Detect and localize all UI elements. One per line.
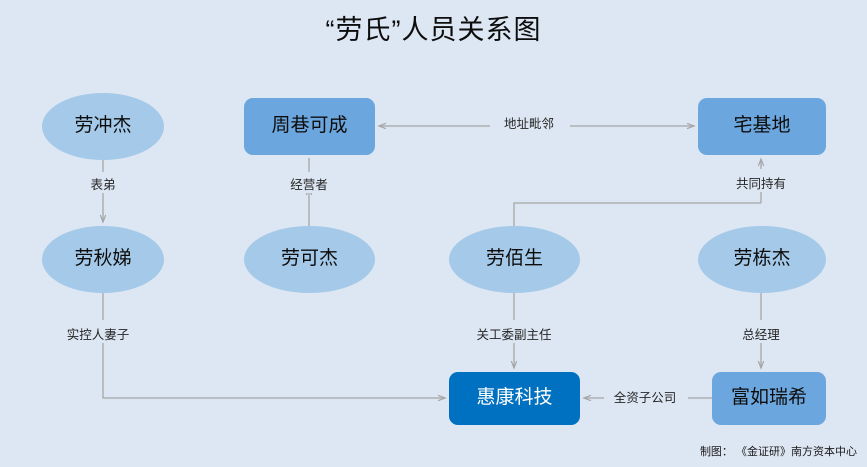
node-label: 劳佰生: [486, 249, 543, 270]
diagram-canvas: “劳氏”人员关系图: [0, 0, 867, 467]
node-lao-bai-sheng[interactable]: 劳佰生: [449, 226, 580, 293]
edge-label-dizhi-bilin: 地址毗邻: [501, 118, 557, 132]
node-label: 劳栋杰: [733, 249, 790, 270]
connector-gongtong-bracket: [514, 203, 761, 228]
edge-label-quanzi-zigongsi: 全资子公司: [611, 392, 680, 406]
edge-label-shikongren-qizi: 实控人妻子: [64, 329, 133, 343]
node-zhai-ji-di[interactable]: 宅基地: [698, 98, 826, 155]
credit-text: 制图： 《金证研》南方资本中心: [700, 443, 857, 459]
node-zhou-xiang-ke-cheng[interactable]: 周巷可成: [244, 98, 375, 155]
node-hui-kang-ke-ji[interactable]: 惠康科技: [449, 372, 580, 425]
node-label: 劳可杰: [281, 249, 338, 270]
node-label: 周巷可成: [271, 116, 347, 137]
node-lao-ke-jie[interactable]: 劳可杰: [244, 226, 375, 293]
node-label: 劳秋娣: [74, 249, 131, 270]
connector-shikongren-elbow: [103, 338, 445, 398]
node-fu-ru-rui-xi[interactable]: 富如瑞希: [712, 372, 826, 425]
node-lao-chong-jie[interactable]: 劳冲杰: [42, 93, 164, 160]
node-label: 富如瑞希: [731, 388, 807, 409]
node-label: 惠康科技: [476, 388, 552, 409]
node-label: 宅基地: [733, 116, 790, 137]
edge-label-zongjingli: 总经理: [739, 329, 783, 343]
node-label: 劳冲杰: [74, 116, 131, 137]
edge-label-biaodi: 表弟: [87, 179, 118, 193]
node-lao-qiu-di[interactable]: 劳秋娣: [42, 226, 164, 293]
edge-label-guangongwei: 关工委副主任: [473, 329, 554, 343]
edge-label-gongtong-chiyou: 共同持有: [733, 178, 789, 192]
node-lao-dong-jie[interactable]: 劳栋杰: [698, 226, 826, 293]
edge-label-jingyingzhe: 经营者: [287, 179, 331, 193]
